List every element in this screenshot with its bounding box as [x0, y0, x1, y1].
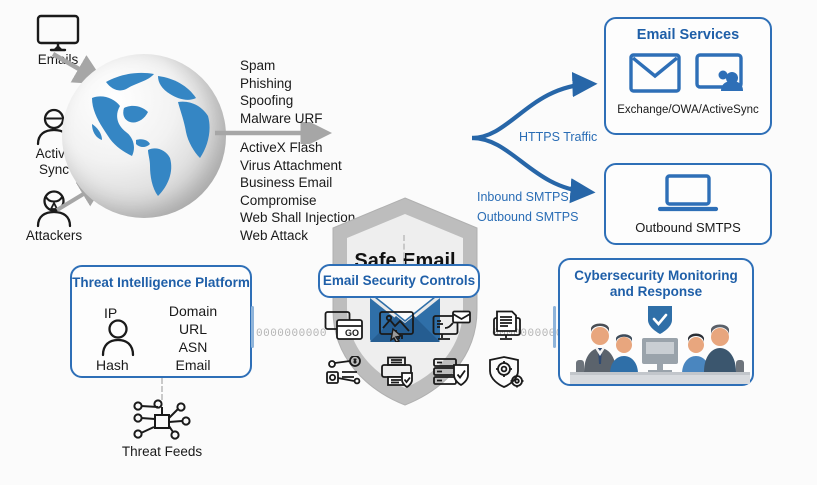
- email-security-controls-title: Email Security Controls: [323, 273, 475, 289]
- monitor-document-icon[interactable]: [484, 306, 528, 346]
- flow-label-inbound-smtps: Inbound SMTPS: [477, 190, 569, 204]
- threat-intel-box[interactable]: Threat Intelligence Platform IP Hash Dom…: [70, 265, 252, 378]
- envelope-icon: [629, 53, 681, 98]
- money-flow-chart-icon[interactable]: [322, 352, 366, 392]
- soc-team-icon: [560, 304, 760, 390]
- click-image-filter-icon[interactable]: [376, 306, 420, 346]
- svg-text:GO: GO: [345, 328, 359, 338]
- threat-list-top: Spam Phishing Spoofing Malware URF: [240, 57, 323, 127]
- email-security-controls-box[interactable]: Email Security Controls: [318, 264, 480, 298]
- desktop-monitor-icon: [24, 14, 92, 52]
- network-nodes-icon: [110, 398, 214, 442]
- server-shield-check-icon[interactable]: [430, 352, 474, 392]
- globe-icon: [62, 54, 226, 218]
- flow-label-outbound-smtps: Outbound SMTPS: [477, 210, 578, 224]
- indicator-domain: Domain: [158, 303, 228, 321]
- indicator-email: Email: [158, 357, 228, 375]
- shield-to-controls-dashed: [403, 235, 405, 267]
- laptop-icon: [606, 174, 770, 214]
- monitoring-box[interactable]: Cybersecurity Monitoring and Response: [558, 258, 754, 386]
- printer-shield-check-icon[interactable]: [376, 352, 420, 392]
- security-controls-icon-grid: GO: [322, 306, 528, 392]
- diagram-canvas: Emails Active Sync Attackers: [0, 0, 817, 485]
- monitor-scan-mail-icon[interactable]: [430, 306, 474, 346]
- screen-users-icon: [695, 53, 747, 98]
- email-services-caption: Exchange/OWA/ActiveSync: [606, 104, 770, 118]
- outbound-smtps-box[interactable]: Outbound SMTPS: [604, 163, 772, 245]
- threat-intel-title: Threat Intelligence Platform: [72, 275, 250, 291]
- indicator-asn: ASN: [158, 339, 228, 357]
- connector-bar-right: [553, 306, 556, 348]
- threat-feeds[interactable]: Threat Feeds: [110, 398, 214, 460]
- outbound-smtps-caption: Outbound SMTPS: [606, 220, 770, 235]
- browser-go-icon[interactable]: GO: [322, 306, 366, 346]
- email-services-title: Email Services: [606, 27, 770, 44]
- monitoring-title: Cybersecurity Monitoring and Response: [560, 268, 752, 300]
- shield-gear-icon[interactable]: [484, 352, 528, 392]
- indicator-url: URL: [158, 321, 228, 339]
- threat-feeds-label: Threat Feeds: [110, 444, 214, 460]
- user-profile-icon: [98, 319, 138, 362]
- email-services-box[interactable]: Email Services Exchange/OWA/ActiveSync: [604, 17, 772, 135]
- tip-to-feeds-dashed: [161, 378, 163, 400]
- connector-dots-left: 0000000000: [256, 328, 327, 340]
- connector-bar-left: [251, 306, 254, 348]
- flow-label-https: HTTPS Traffic: [519, 130, 597, 144]
- source-attackers-label: Attackers: [14, 228, 94, 244]
